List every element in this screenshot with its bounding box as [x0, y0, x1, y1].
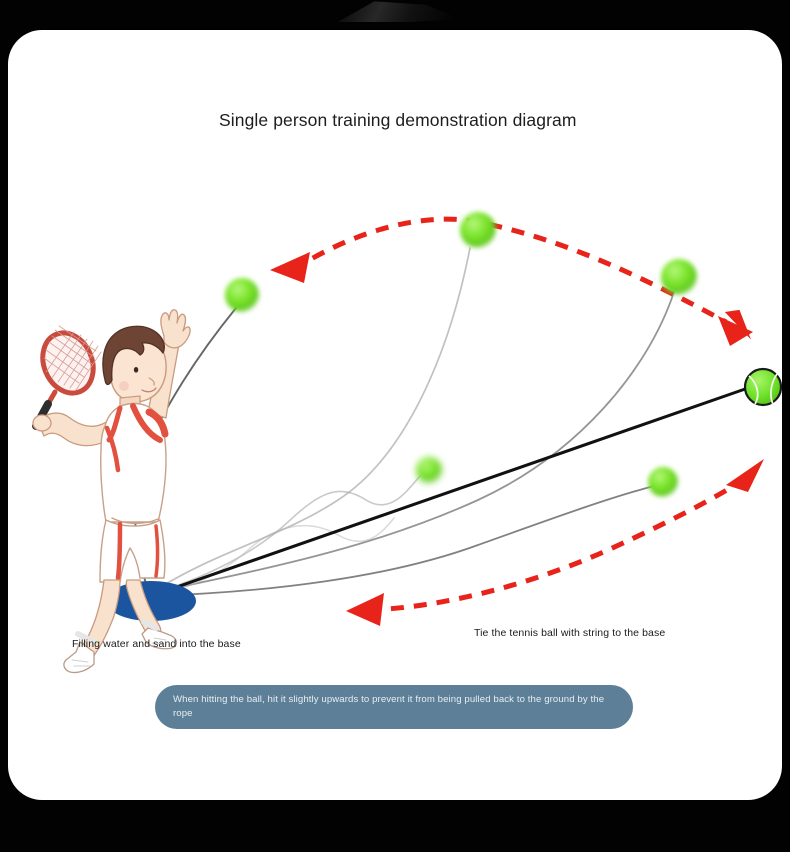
ball-3 [661, 259, 697, 295]
arrow-bottom-head [346, 593, 384, 626]
arrow-top-head [270, 252, 310, 283]
ball-5 [648, 467, 678, 497]
string-to-ball-5 [153, 486, 654, 596]
content-card: Single person training demonstration dia… [8, 30, 782, 800]
ball-4 [416, 457, 442, 483]
ball-main [745, 369, 781, 406]
arrow-right-up-head [726, 459, 764, 492]
screenshot-root: Single person training demonstration dia… [0, 0, 790, 852]
caption-right: Tie the tennis ball with string to the b… [474, 627, 665, 639]
string-bundle [135, 248, 674, 596]
tip-banner: When hitting the ball, hit it slightly u… [155, 685, 633, 729]
caption-left: Filling water and sand into the base [72, 638, 241, 650]
tip-banner-text: When hitting the ball, hit it slightly u… [173, 693, 615, 720]
arrow-top-path [293, 219, 726, 322]
ball-1 [225, 278, 259, 312]
ball-2 [460, 212, 496, 248]
raised-hand [161, 310, 190, 348]
string-to-ball-4 [150, 476, 420, 594]
tennis-racket [34, 325, 102, 426]
